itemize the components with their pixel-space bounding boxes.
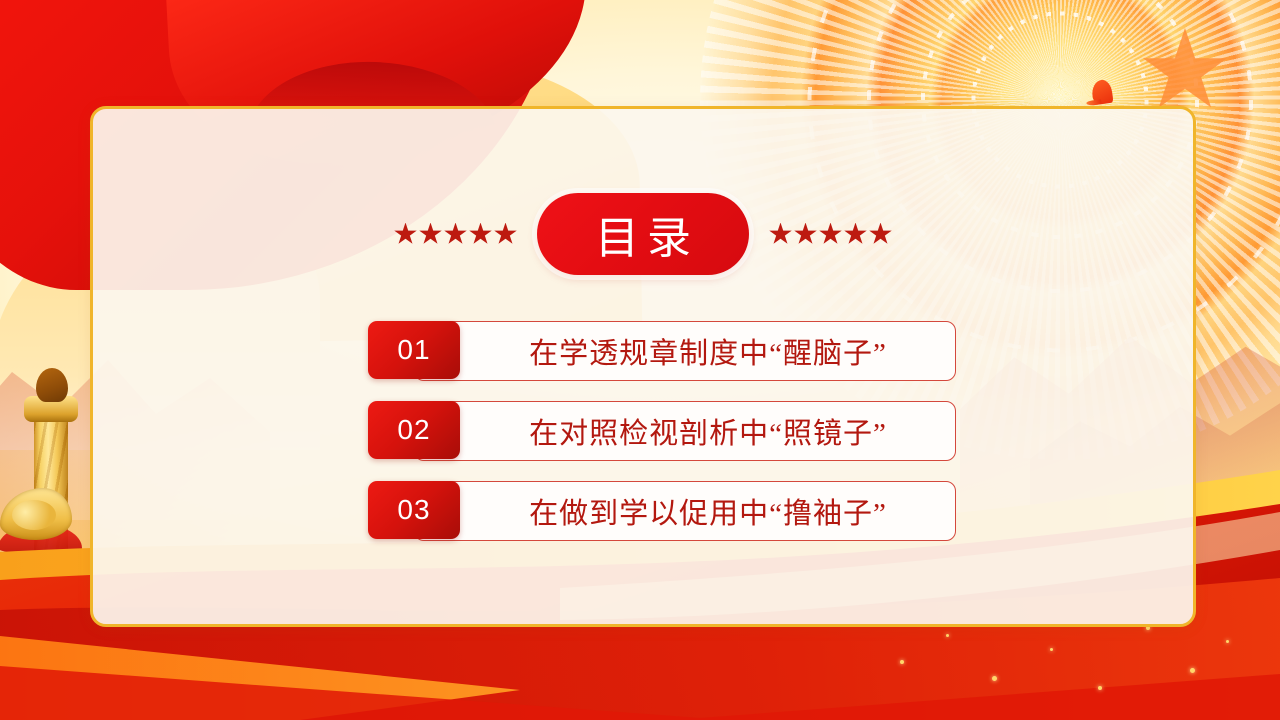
- toc-item-body: 在对照检视剖析中“照镜子”: [414, 401, 956, 461]
- page-title: 目录: [587, 202, 699, 266]
- toc-item-number: 03: [368, 481, 460, 539]
- toc-item-body: 在做到学以促用中“撸袖子”: [414, 481, 956, 541]
- huabiao-beast-top: [36, 368, 68, 402]
- star-icon: [869, 223, 892, 246]
- toc-item-label: 在做到学以促用中“撸袖子”: [483, 490, 887, 532]
- star-icon: [469, 223, 492, 246]
- star-icon: [844, 223, 867, 246]
- star-icon: [769, 223, 792, 246]
- toc-item-01[interactable]: 在学透规章制度中“醒脑子” 01: [368, 321, 956, 379]
- presentation-slide: 目录 在学透规章制度中“醒脑子” 01 在对照检视剖析中“照镜子”: [0, 0, 1280, 720]
- star-icon: [794, 223, 817, 246]
- page-title-badge: 目录: [537, 193, 749, 275]
- star-icon: [494, 223, 517, 246]
- toc-item-body: 在学透规章制度中“醒脑子”: [414, 321, 956, 381]
- content-card: 目录 在学透规章制度中“醒脑子” 01 在对照检视剖析中“照镜子”: [90, 106, 1196, 627]
- section-title-row: 目录: [93, 193, 1193, 275]
- toc-item-label: 在对照检视剖析中“照镜子”: [483, 410, 887, 452]
- table-of-contents-list: 在学透规章制度中“醒脑子” 01 在对照检视剖析中“照镜子” 02 在做到学以促…: [368, 321, 956, 539]
- star-icon: [444, 223, 467, 246]
- toc-item-number: 01: [368, 321, 460, 379]
- star-icon: [819, 223, 842, 246]
- toc-item-label: 在学透规章制度中“醒脑子”: [483, 330, 887, 372]
- star-icon: [394, 223, 417, 246]
- toc-item-02[interactable]: 在对照检视剖析中“照镜子” 02: [368, 401, 956, 459]
- toc-item-03[interactable]: 在做到学以促用中“撸袖子” 03: [368, 481, 956, 539]
- toc-item-number: 02: [368, 401, 460, 459]
- stars-left-group: [394, 223, 517, 246]
- stars-right-group: [769, 223, 892, 246]
- star-icon: [419, 223, 442, 246]
